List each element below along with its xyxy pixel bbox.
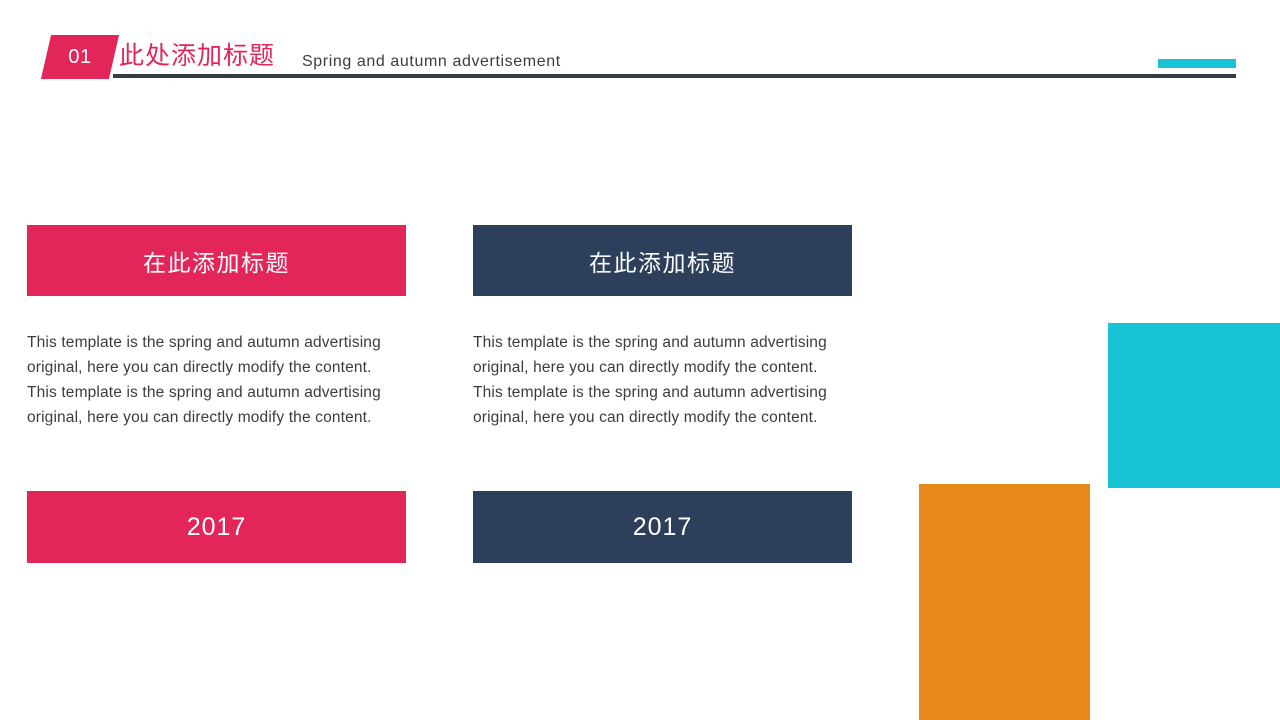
slide-header: 01 此处添加标题 Spring and autumn advertisemen…: [0, 0, 1280, 95]
card-title-right: 在此添加标题: [473, 225, 852, 296]
decorative-block-cyan: [1108, 323, 1280, 488]
content-column-right: 在此添加标题 This template is the spring and a…: [473, 225, 852, 430]
card-body-left: This template is the spring and autumn a…: [27, 330, 388, 430]
card-body-right: This template is the spring and autumn a…: [473, 330, 834, 430]
header-divider-rule: [113, 74, 1236, 78]
card-year-left: 2017: [27, 491, 406, 563]
decorative-block-orange: [919, 484, 1090, 720]
card-title-left: 在此添加标题: [27, 225, 406, 296]
header-accent-bar: [1158, 59, 1236, 68]
page-title: 此处添加标题: [119, 43, 275, 71]
content-column-left: 在此添加标题 This template is the spring and a…: [27, 225, 406, 430]
section-number-label: 01: [46, 35, 114, 79]
page-subtitle: Spring and autumn advertisement: [302, 53, 561, 71]
slide-canvas: 01 此处添加标题 Spring and autumn advertisemen…: [0, 0, 1280, 720]
card-year-right: 2017: [473, 491, 852, 563]
